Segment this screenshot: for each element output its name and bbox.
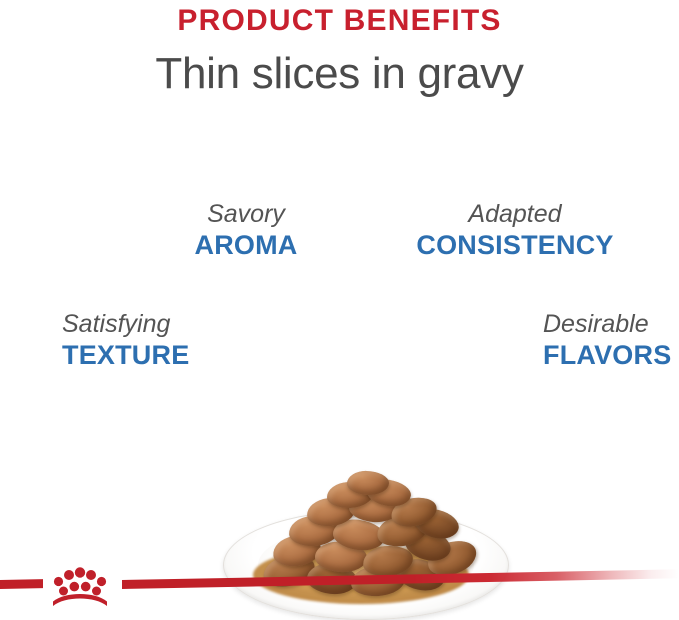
benefit-term: AROMA: [182, 230, 310, 260]
eyebrow-title: PRODUCT BENEFITS: [0, 0, 679, 38]
benefit-qualifier: Savory: [182, 200, 310, 228]
benefit-texture: Satisfying TEXTURE: [62, 310, 212, 370]
header: PRODUCT BENEFITS Thin slices in gravy: [0, 0, 679, 98]
benefit-qualifier: Desirable: [543, 310, 679, 338]
page-title: Thin slices in gravy: [0, 38, 679, 98]
benefit-consistency: Adapted CONSISTENCY: [407, 200, 623, 260]
benefit-qualifier: Satisfying: [62, 310, 212, 338]
brand-bar-right-segment: [122, 569, 679, 589]
product-image-alt: Plate of thin meat slices in gravy: [215, 468, 216, 469]
benefit-term: TEXTURE: [62, 340, 212, 370]
benefit-flavors: Desirable FLAVORS: [543, 310, 679, 370]
royal-canin-crown-logo: [45, 556, 115, 616]
benefit-aroma: Savory AROMA: [182, 200, 310, 260]
benefits-group: Savory AROMA Adapted CONSISTENCY Satisfy…: [0, 186, 679, 466]
benefit-term: CONSISTENCY: [407, 230, 623, 260]
brand-bar-left-segment: [0, 579, 43, 589]
benefit-term: FLAVORS: [543, 340, 679, 370]
footer-brand-bar: [0, 554, 679, 620]
product-benefits-panel: PRODUCT BENEFITS Thin slices in gravy Sa…: [0, 0, 679, 620]
benefit-qualifier: Adapted: [407, 200, 623, 228]
